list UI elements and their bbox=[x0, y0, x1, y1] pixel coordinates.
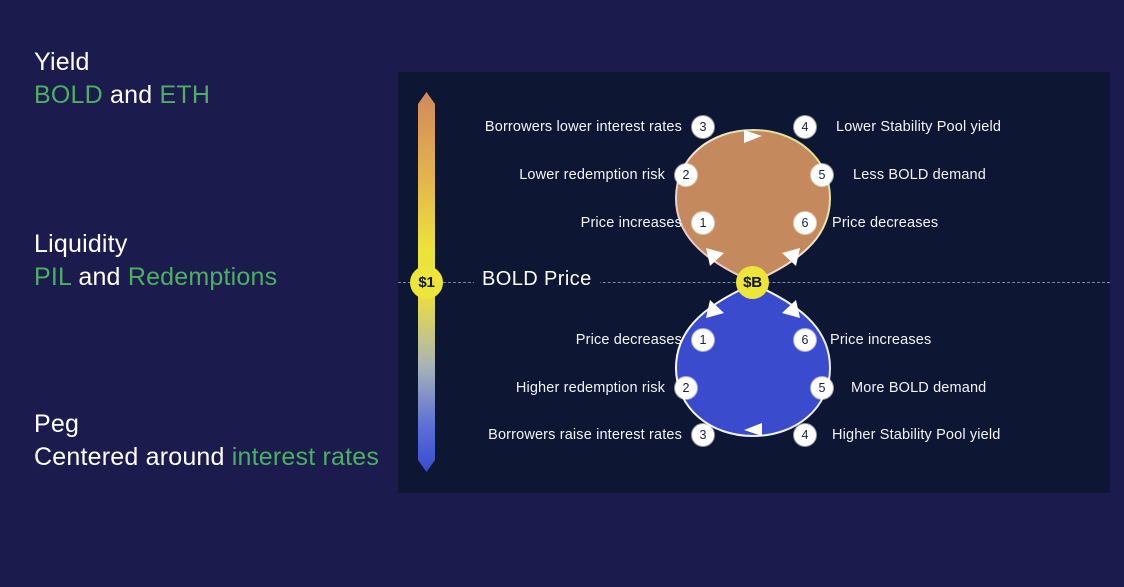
sidebar-block-yield: Yield BOLD and ETH bbox=[34, 46, 210, 112]
step-label-lower-left-3: Borrowers raise interest rates bbox=[422, 427, 682, 443]
sidebar-block-peg: Peg Centered around interest rates bbox=[34, 408, 379, 474]
slide-canvas: Yield BOLD and ETH Liquidity PIL and Red… bbox=[0, 0, 1124, 587]
step-marker-lower-left-3[interactable]: 3 bbox=[692, 424, 714, 446]
sidebar-sub-peg-pre: Centered around bbox=[34, 443, 232, 471]
step-label-lower-right-6: Price increases bbox=[830, 332, 931, 348]
step-marker-lower-right-4[interactable]: 4 bbox=[794, 424, 816, 446]
step-label-upper-right-5: Less BOLD demand bbox=[853, 167, 986, 183]
step-label-upper-left-2: Lower redemption risk bbox=[422, 167, 665, 183]
step-marker-upper-right-6[interactable]: 6 bbox=[794, 212, 816, 234]
sidebar: Yield BOLD and ETH Liquidity PIL and Red… bbox=[34, 0, 394, 587]
sidebar-block-liquidity: Liquidity PIL and Redemptions bbox=[34, 228, 277, 294]
sidebar-sub-peg: Centered around interest rates bbox=[34, 441, 379, 474]
step-marker-upper-right-4[interactable]: 4 bbox=[794, 116, 816, 138]
step-marker-lower-left-2[interactable]: 2 bbox=[675, 377, 697, 399]
sidebar-title-peg: Peg bbox=[34, 408, 379, 441]
step-label-upper-left-3: Borrowers lower interest rates bbox=[422, 119, 682, 135]
step-marker-lower-right-6[interactable]: 6 bbox=[794, 329, 816, 351]
step-marker-lower-left-1[interactable]: 1 bbox=[692, 329, 714, 351]
sidebar-title-yield: Yield bbox=[34, 46, 210, 79]
step-marker-upper-left-1[interactable]: 1 bbox=[692, 212, 714, 234]
step-label-lower-left-2: Higher redemption risk bbox=[422, 380, 665, 396]
sidebar-title-liquidity: Liquidity bbox=[34, 228, 277, 261]
sidebar-sub-yield-term-a: BOLD bbox=[34, 81, 103, 109]
sidebar-sub-yield-mid: and bbox=[103, 81, 160, 109]
step-label-upper-right-4: Lower Stability Pool yield bbox=[836, 119, 1001, 135]
step-marker-lower-right-5[interactable]: 5 bbox=[811, 377, 833, 399]
bold-price-label: BOLD Price bbox=[474, 268, 600, 291]
lower-loop-shape bbox=[676, 284, 830, 436]
step-marker-upper-left-3[interactable]: 3 bbox=[692, 116, 714, 138]
step-label-lower-left-1: Price decreases bbox=[422, 332, 682, 348]
upper-loop-shape bbox=[676, 130, 830, 282]
step-label-lower-right-5: More BOLD demand bbox=[851, 380, 986, 396]
sidebar-sub-peg-term-a: interest rates bbox=[232, 443, 379, 471]
step-label-lower-right-4: Higher Stability Pool yield bbox=[832, 427, 1000, 443]
badge-dollar-b: $B bbox=[736, 266, 769, 299]
step-marker-upper-left-2[interactable]: 2 bbox=[675, 164, 697, 186]
step-label-upper-right-6: Price decreases bbox=[832, 215, 938, 231]
sidebar-sub-liquidity-term-a: PIL bbox=[34, 263, 71, 291]
sidebar-sub-liquidity-mid: and bbox=[71, 263, 128, 291]
badge-dollar-one: $1 bbox=[410, 266, 443, 299]
step-label-upper-left-1: Price increases bbox=[422, 215, 682, 231]
sidebar-sub-liquidity: PIL and Redemptions bbox=[34, 261, 277, 294]
sidebar-sub-yield-term-b: ETH bbox=[160, 81, 211, 109]
diagram-panel: BOLD Price $1 $B 3 2 1 Borrowers lower i… bbox=[398, 72, 1110, 493]
step-marker-upper-right-5[interactable]: 5 bbox=[811, 164, 833, 186]
sidebar-sub-liquidity-term-b: Redemptions bbox=[128, 263, 278, 291]
sidebar-sub-yield: BOLD and ETH bbox=[34, 79, 210, 112]
